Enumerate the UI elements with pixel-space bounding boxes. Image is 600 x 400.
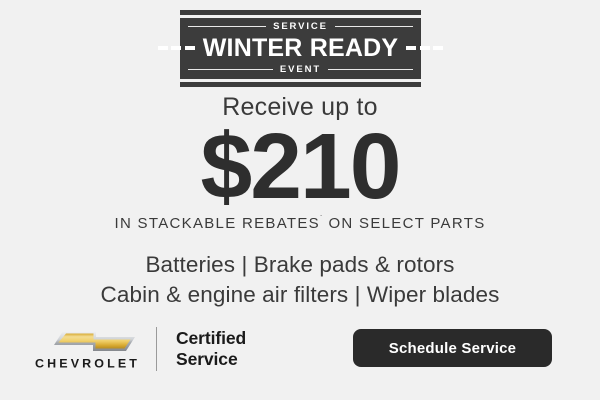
badge-rule-right — [335, 26, 413, 27]
product-line-1: Batteries | Brake pads & rotors — [0, 250, 600, 280]
badge-event-rule-left — [188, 69, 273, 70]
product-line-2: Cabin & engine air filters | Wiper blade… — [0, 280, 600, 310]
chevrolet-wordmark: CHEVROLET — [35, 359, 140, 371]
badge-dashes-right-icon — [406, 46, 443, 50]
badge-event-rule-row: EVENT — [188, 64, 413, 75]
badge-rule-left — [188, 26, 266, 27]
offer-terms-suffix: ON SELECT PARTS — [323, 215, 486, 232]
badge-service-rule-row: SERVICE — [188, 21, 413, 32]
badge-service-label: SERVICE — [273, 22, 328, 32]
badge-dashes-left-icon — [158, 46, 195, 50]
certified-line-2: Service — [176, 349, 246, 370]
offer-amount: $210 — [0, 120, 600, 213]
advertisement-banner: SERVICE WINTER READY EVENT Receive up — [0, 0, 600, 400]
brand-lockup: CHEVROLET Certified Service — [30, 320, 246, 378]
badge-headline-row: WINTER READY — [188, 33, 413, 63]
certified-service-label: Certified Service — [176, 328, 246, 369]
badge-body: SERVICE WINTER READY EVENT — [180, 18, 421, 79]
schedule-service-button[interactable]: Schedule Service — [353, 329, 552, 367]
badge-bottom-accent-bar — [180, 82, 421, 87]
offer-terms-main: IN STACKABLE REBATES — [114, 215, 320, 232]
badge-event-rule-right — [328, 69, 413, 70]
lockup-divider — [156, 327, 157, 371]
chevrolet-bowtie-icon — [32, 327, 140, 355]
offer-terms: IN STACKABLE REBATES˙ ON SELECT PARTS — [0, 215, 600, 231]
product-list: Batteries | Brake pads & rotors Cabin & … — [0, 250, 600, 309]
badge-headline: WINTER READY — [203, 36, 398, 61]
certified-line-1: Certified — [176, 328, 246, 349]
winter-ready-badge: SERVICE WINTER READY EVENT — [180, 10, 421, 80]
badge-event-label: EVENT — [280, 65, 321, 75]
chevrolet-logo: CHEVROLET — [30, 327, 142, 371]
